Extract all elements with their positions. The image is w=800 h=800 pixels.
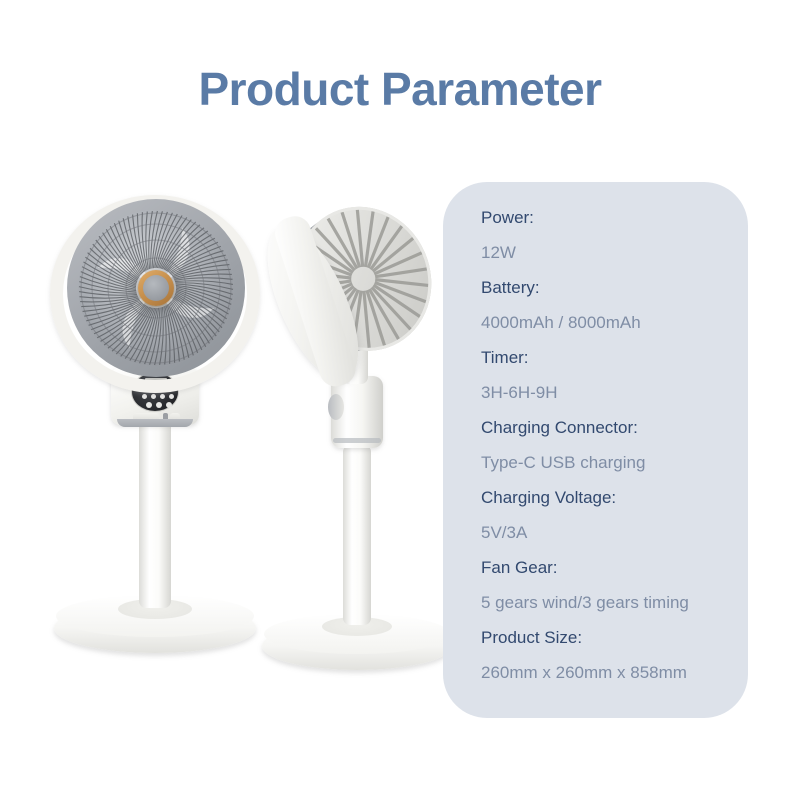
control-button-mode[interactable]: [156, 402, 162, 408]
control-housing-foot: [117, 419, 193, 427]
spec-label: Charging Voltage:: [481, 488, 616, 507]
fan-side-head: [245, 167, 474, 401]
control-button-power[interactable]: [146, 402, 152, 408]
spec-value: 5V/3A: [481, 523, 527, 542]
product-parameter-page: Product Parameter: [0, 0, 800, 800]
spec-row-value: Type-C USB charging: [481, 445, 738, 480]
spec-label: Battery:: [481, 278, 540, 297]
control-button[interactable]: [169, 394, 174, 399]
spec-value: 4000mAh / 8000mAh: [481, 313, 641, 332]
spec-row-label: Charging Voltage:: [481, 480, 738, 515]
spec-label: Power:: [481, 208, 534, 227]
joint-pivot-ring: [328, 394, 344, 420]
spec-row-value: 12W: [481, 235, 738, 270]
spec-label: Product Size:: [481, 628, 582, 647]
spec-row-value: 5 gears wind/3 gears timing: [481, 585, 738, 620]
joint-band: [333, 438, 381, 443]
spec-row-value: 260mm x 260mm x 858mm: [481, 655, 738, 690]
spec-row-value: 3H-6H-9H: [481, 375, 738, 410]
spec-value: 260mm x 260mm x 858mm: [481, 663, 687, 682]
spec-value: Type-C USB charging: [481, 453, 645, 472]
spec-row-label: Battery:: [481, 270, 738, 305]
spec-panel: Power: 12W Battery: 4000mAh / 8000mAh Ti…: [443, 182, 748, 718]
control-button-timer[interactable]: [166, 402, 172, 408]
spec-row-value: 5V/3A: [481, 515, 738, 550]
spec-value: 12W: [481, 243, 516, 262]
spec-label: Fan Gear:: [481, 558, 558, 577]
spec-label: Charging Connector:: [481, 418, 638, 437]
spec-row-label: Timer:: [481, 340, 738, 375]
spec-label: Timer:: [481, 348, 529, 367]
control-button[interactable]: [160, 394, 165, 399]
spec-row-label: Product Size:: [481, 620, 738, 655]
fan-front-pole: [139, 420, 171, 608]
spec-row-value: 4000mAh / 8000mAh: [481, 305, 738, 340]
control-button[interactable]: [142, 394, 147, 399]
spec-row-label: Charging Connector:: [481, 410, 738, 445]
spec-value: 3H-6H-9H: [481, 383, 558, 402]
fan-side-pole: [343, 445, 371, 625]
fan-front-hub-cap: [143, 275, 169, 301]
control-button[interactable]: [151, 394, 156, 399]
product-image-fan-side: [250, 190, 450, 690]
spec-list: Power: 12W Battery: 4000mAh / 8000mAh Ti…: [481, 200, 738, 690]
product-image-fan-front: [40, 185, 270, 685]
spec-row-label: Power:: [481, 200, 738, 235]
page-title: Product Parameter: [0, 62, 800, 116]
spec-value: 5 gears wind/3 gears timing: [481, 593, 689, 612]
spec-row-label: Fan Gear:: [481, 550, 738, 585]
